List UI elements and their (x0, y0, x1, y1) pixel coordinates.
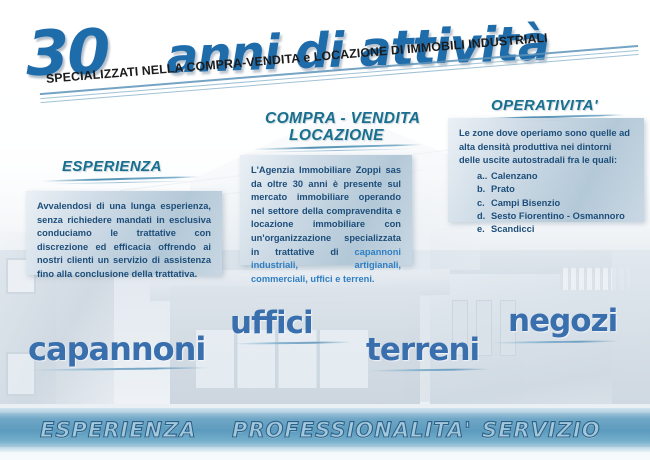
box-esperienza-text: Avvalendosi di una lunga esperienza, sen… (37, 200, 211, 282)
list-item: e.Scandicci (477, 223, 633, 236)
box-compra-vendita-body: L'Agenzia Immobiliare Zoppi sas da oltre… (251, 165, 401, 257)
keyword-uffici: uffici (230, 305, 313, 341)
list-item: c.Campi Bisenzio (477, 197, 633, 210)
list-item: a..Calenzano (477, 170, 633, 183)
list-label: Sesto Fiorentino - Osmannoro (491, 211, 625, 221)
box-operativita-intro: Le zone dove operiamo sono quelle ad alt… (459, 127, 633, 168)
box-compra-vendita-text: L'Agenzia Immobiliare Zoppi sas da oltre… (251, 164, 401, 286)
heading-compra-vendita: COMPRA - VENDITA (265, 110, 420, 128)
list-label: Calenzano (491, 171, 538, 181)
list-label: Campi Bisenzio (491, 198, 560, 208)
list-label: Scandicci (491, 224, 534, 234)
keyword-negozi-underline (490, 341, 620, 347)
list-marker: a.. (477, 170, 491, 183)
box-esperienza: Avvalendosi di una lunga esperienza, sen… (26, 191, 222, 275)
keyword-uffici-underline (232, 342, 352, 348)
list-marker: d. (477, 210, 491, 223)
brochure-page: 30 anni di attività SPECIALIZZATI NELLA … (0, 0, 650, 460)
heading-operativita: OPERATIVITA' (491, 97, 598, 114)
heading-esperienza: ESPERIENZA (62, 158, 162, 175)
box-compra-vendita: L'Agenzia Immobiliare Zoppi sas da oltre… (240, 155, 412, 265)
keyword-capannoni: capannoni (28, 330, 205, 368)
list-item: b.Prato (477, 183, 633, 196)
banner-word-professionalita: PROFESSIONALITA' (232, 418, 472, 442)
list-marker: c. (477, 197, 491, 210)
heading-compra-vendita-underline (252, 144, 422, 154)
box-operativita: Le zone dove operiamo sono quelle ad alt… (448, 118, 644, 222)
heading-locazione: LOCAZIONE (289, 127, 384, 145)
keyword-terreni: terreni (366, 332, 479, 368)
list-label: Prato (491, 184, 515, 194)
keyword-capannoni-underline (30, 368, 210, 374)
banner-word-servizio: SERVIZIO (482, 418, 601, 442)
heading-esperienza-underline (40, 176, 200, 186)
banner-word-esperienza: ESPERIENZA (40, 418, 197, 442)
list-marker: e. (477, 223, 491, 236)
banner-bottom-edge (0, 447, 650, 452)
operativita-zone-list: a..Calenzano b.Prato c.Campi Bisenzio d.… (459, 170, 633, 237)
list-item: d.Sesto Fiorentino - Osmannoro (477, 210, 633, 223)
building-far-right (612, 250, 650, 420)
keyword-negozi: negozi (508, 303, 617, 339)
list-marker: b. (477, 183, 491, 196)
keyword-terreni-underline (368, 369, 490, 375)
